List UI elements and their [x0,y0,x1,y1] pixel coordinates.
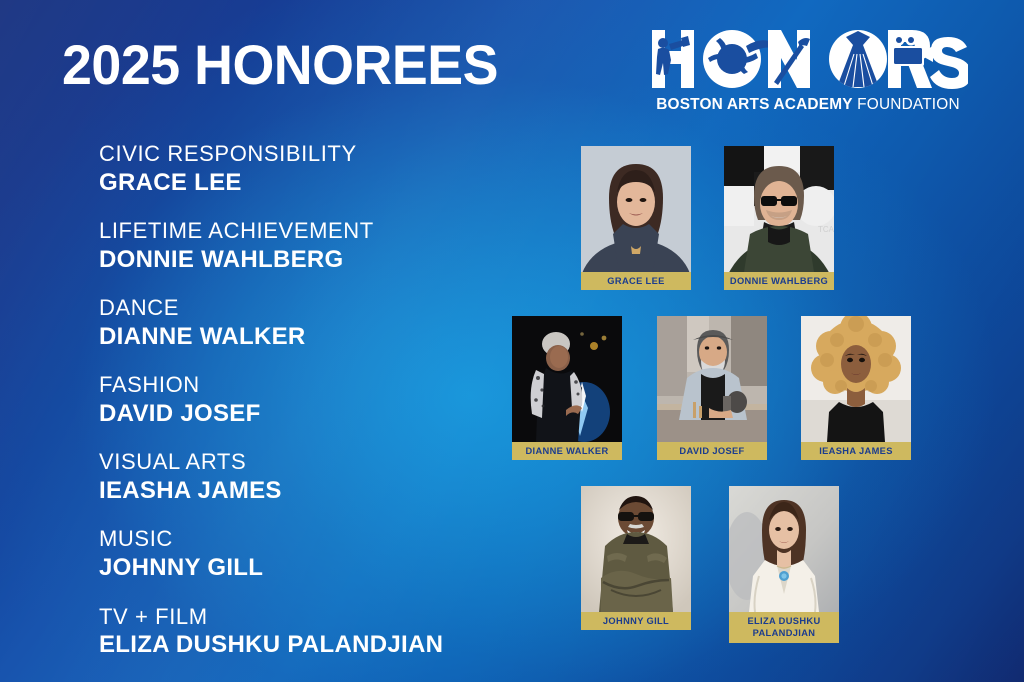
honoree-photo-grid: GRACE LEE TCA [0,0,1024,682]
honorees-poster: 2025 HONOREES [0,0,1024,682]
honoree-card-caption: IEASHA JAMES [801,442,911,460]
honoree-photo-donnie-wahlberg: TCA [724,146,834,272]
honoree-card-caption: DAVID JOSEF [657,442,767,460]
honoree-photo-david-josef [657,316,767,442]
svg-text:TCA: TCA [818,225,834,234]
honoree-card-caption: GRACE LEE [581,272,691,290]
honoree-photo-grace-lee [581,146,691,272]
honoree-card-johnny-gill: JOHNNY GILL [581,486,691,630]
honoree-card-david-josef: DAVID JOSEF [657,316,767,460]
honoree-photo-eliza-dushku-palandjian [729,486,839,612]
honoree-photo-johnny-gill [581,486,691,612]
honoree-card-donnie-wahlberg: TCA DONNIE WAHLBERG [724,146,834,290]
honoree-card-caption: DONNIE WAHLBERG [724,272,834,290]
honoree-card-dianne-walker: DIANNE WALKER [512,316,622,460]
honoree-card-eliza-dushku-palandjian: ELIZA DUSHKU PALANDJIAN [729,486,839,643]
honoree-card-caption: JOHNNY GILL [581,612,691,630]
honoree-photo-ieasha-james [801,316,911,442]
honoree-card-ieasha-james: IEASHA JAMES [801,316,911,460]
honoree-card-grace-lee: GRACE LEE [581,146,691,290]
honoree-card-caption: ELIZA DUSHKU PALANDJIAN [729,612,839,643]
honoree-photo-dianne-walker [512,316,622,442]
honoree-card-caption: DIANNE WALKER [512,442,622,460]
